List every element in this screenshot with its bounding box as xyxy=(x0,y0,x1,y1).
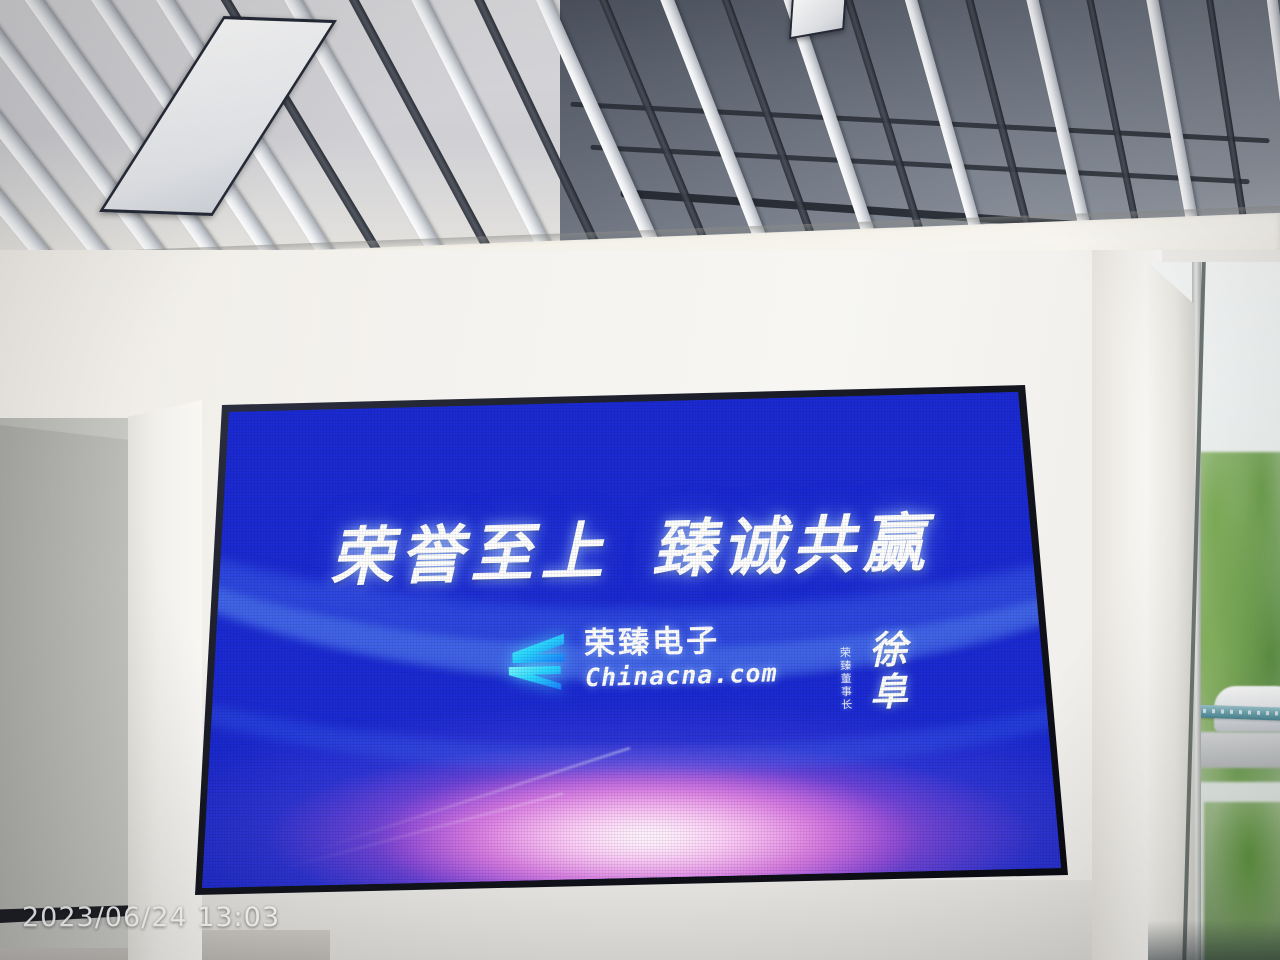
window-sill-shadow xyxy=(1148,920,1280,960)
exterior-window xyxy=(1148,262,1280,960)
window-road xyxy=(1188,732,1280,768)
alcove-inner-wall xyxy=(0,425,132,930)
alcove-door-jamb xyxy=(128,400,202,960)
photo-timestamp: 2023/06/24 13:03 xyxy=(22,902,280,933)
plenum-pipe xyxy=(590,145,1249,185)
photo-scene: 荣誉至上臻诚共赢 xyxy=(0,0,1280,960)
